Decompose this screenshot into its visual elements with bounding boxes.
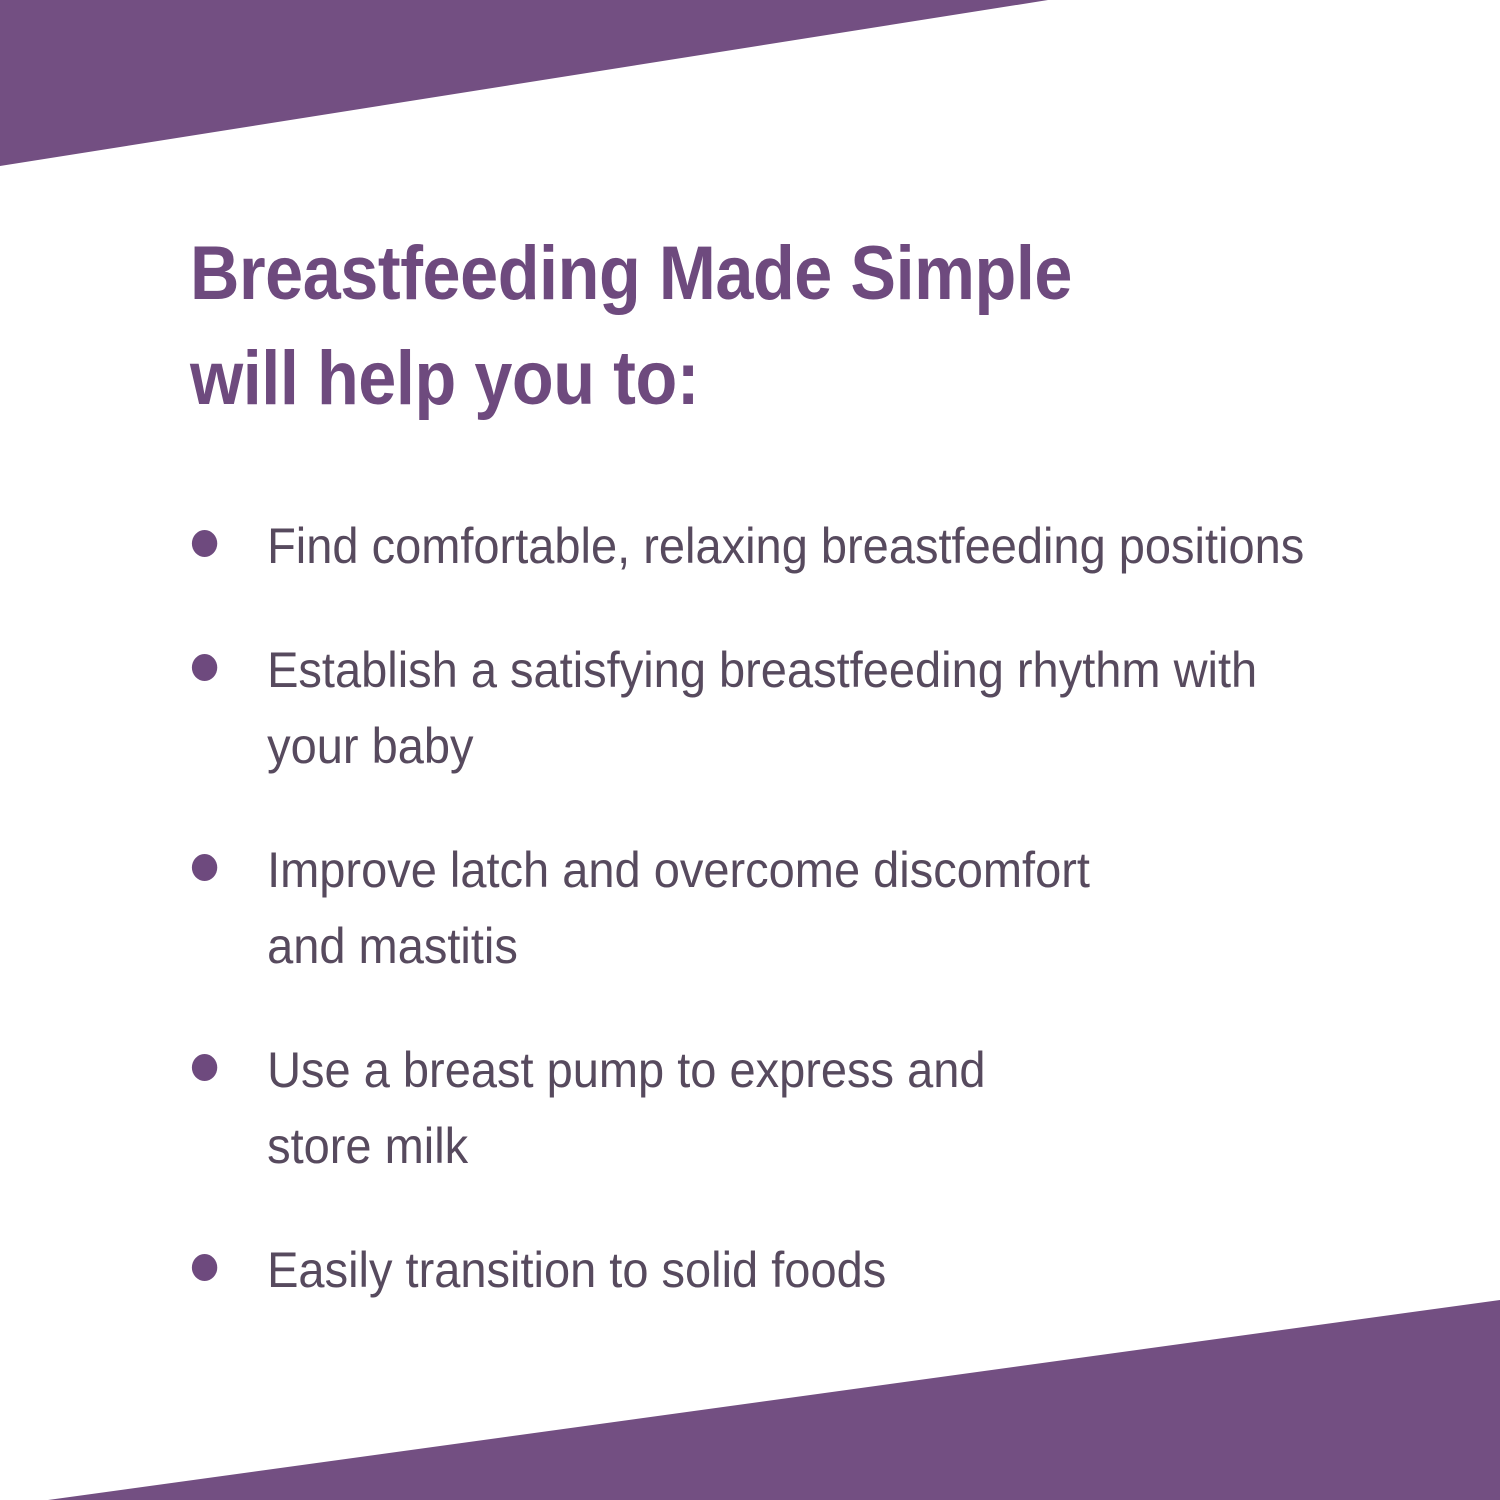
list-item-label: Establish a satisfying breastfeeding rhy… bbox=[267, 632, 1374, 784]
list-item: Easily transition to solid foods bbox=[190, 1232, 1374, 1308]
promo-card: Breastfeeding Made Simple will help you … bbox=[0, 0, 1500, 1500]
bullet-dot-icon bbox=[192, 1054, 217, 1081]
bottom-angled-purple-band bbox=[0, 1300, 1500, 1500]
list-item: Establish a satisfying breastfeeding rhy… bbox=[190, 632, 1374, 784]
list-item-label: Use a breast pump to express and store m… bbox=[267, 1032, 1374, 1184]
list-item: Improve latch and overcome discomfort an… bbox=[190, 832, 1374, 984]
page-title: Breastfeeding Made Simple will help you … bbox=[190, 222, 1324, 432]
list-item: Find comfortable, relaxing breastfeeding… bbox=[190, 508, 1374, 584]
list-item-label: Easily transition to solid foods bbox=[267, 1232, 1374, 1308]
top-angled-purple-band bbox=[0, 0, 1500, 200]
content-area: Breastfeeding Made Simple will help you … bbox=[190, 222, 1450, 1308]
bullet-dot-icon bbox=[192, 854, 217, 881]
bullet-dot-icon bbox=[192, 1254, 217, 1281]
benefits-list: Find comfortable, relaxing breastfeeding… bbox=[190, 508, 1450, 1308]
bullet-dot-icon bbox=[192, 530, 217, 557]
list-item-label: Improve latch and overcome discomfort an… bbox=[267, 832, 1374, 984]
list-item: Use a breast pump to express and store m… bbox=[190, 1032, 1374, 1184]
list-item-label: Find comfortable, relaxing breastfeeding… bbox=[267, 508, 1374, 584]
bullet-dot-icon bbox=[192, 654, 217, 681]
